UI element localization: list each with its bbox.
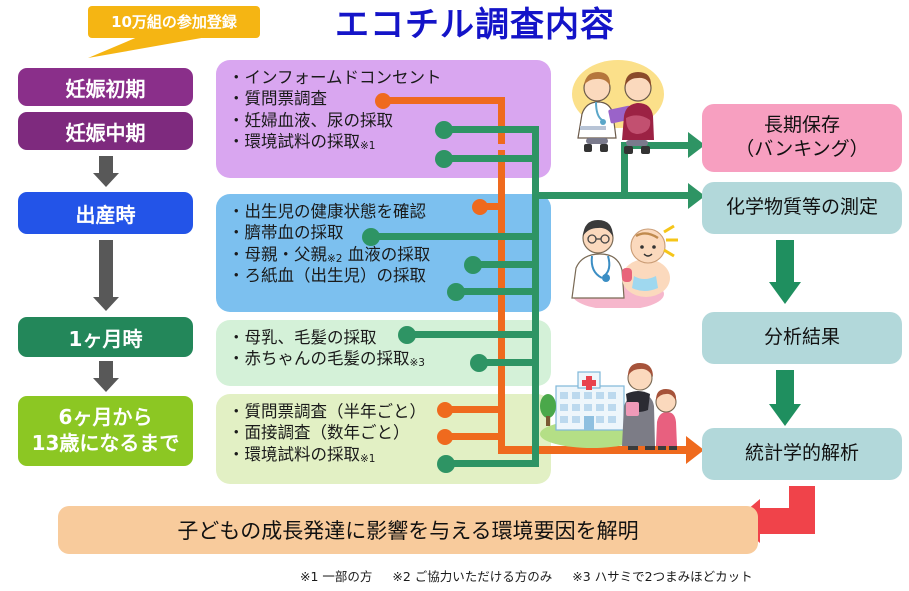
right-box-long-term-storage: 長期保存 （バンキング）: [702, 104, 902, 172]
footnote-1: ※1 一部の方: [300, 569, 372, 584]
orange-trunk-v-main: [498, 203, 505, 453]
footnote-3: ※3 ハサミで2つまみほどカット: [572, 569, 752, 584]
footnotes: ※1 一部の方 ※2 ご協力いただける方のみ ※3 ハサミで2つまみほどカット: [300, 566, 900, 586]
green-connector-h2: [444, 155, 539, 162]
illustration-doctor-and-pregnant-woman: [556, 52, 676, 162]
green-trunk-v: [532, 126, 539, 467]
right-box-analysis-results: 分析結果: [702, 312, 902, 364]
orange-connector-h4: [445, 433, 505, 440]
green-connector-h6: [407, 331, 539, 338]
stage-chip-pregnancy-mid: 妊娠中期: [18, 112, 193, 150]
grey-arrow-2: [92, 240, 120, 312]
illustration-doctor-examining-baby: [560, 206, 678, 308]
green-arrow-results-to-statistics: [768, 370, 802, 426]
footnote-ref: ※2: [327, 253, 342, 265]
green-arrow-measure-to-results: [768, 240, 802, 304]
orange-dot-questionnaire: [375, 93, 391, 109]
footnote-ref: ※1: [360, 453, 375, 465]
footnote-2: ※2 ご協力いただける方のみ: [392, 569, 552, 584]
right-box-chemical-measurement: 化学物質等の測定: [702, 182, 902, 234]
green-connector-h8: [446, 460, 539, 467]
right-box-statistical-analysis: 統計学的解析: [702, 428, 902, 480]
orange-connector-h3: [445, 406, 505, 413]
page-title: エコチル調査内容: [305, 2, 645, 48]
conclusion-banner: 子どもの成長発達に影響を与える環境要因を解明: [58, 506, 758, 554]
grey-arrow-1: [92, 156, 120, 188]
participation-callout: 10万組の参加登録: [88, 6, 260, 38]
grey-arrow-3: [92, 361, 120, 393]
list-item: ・インフォームドコンセント: [228, 67, 551, 88]
green-connector-h7: [479, 359, 539, 366]
stage-chip-one-month: 1ヶ月時: [18, 317, 193, 357]
callout-tail: [88, 36, 218, 58]
green-exit-h-measure: [532, 192, 690, 199]
green-connector-h3: [371, 233, 539, 240]
illustration-mother-and-child-at-hospital: [540, 358, 680, 450]
red-arrow-shaft-horizontal: [760, 508, 815, 534]
green-connector-h5: [456, 288, 539, 295]
orange-trunk-v-upper: [498, 97, 505, 144]
orange-connector-h1: [383, 97, 505, 104]
green-connector-h1: [444, 126, 539, 133]
infographic-root: エコチル調査内容 10万組の参加登録 妊娠初期 妊娠中期 出産時 1ヶ月時 6ヶ…: [0, 0, 909, 591]
footnote-ref: ※3: [410, 357, 425, 369]
stage-chip-six-months-to-thirteen: 6ヶ月から 13歳になるまで: [18, 396, 193, 466]
stage-chip-pregnancy-early: 妊娠初期: [18, 68, 193, 106]
footnote-ref: ※1: [360, 140, 375, 152]
green-connector-h4: [473, 261, 539, 268]
stage-chip-birth: 出産時: [18, 192, 193, 234]
